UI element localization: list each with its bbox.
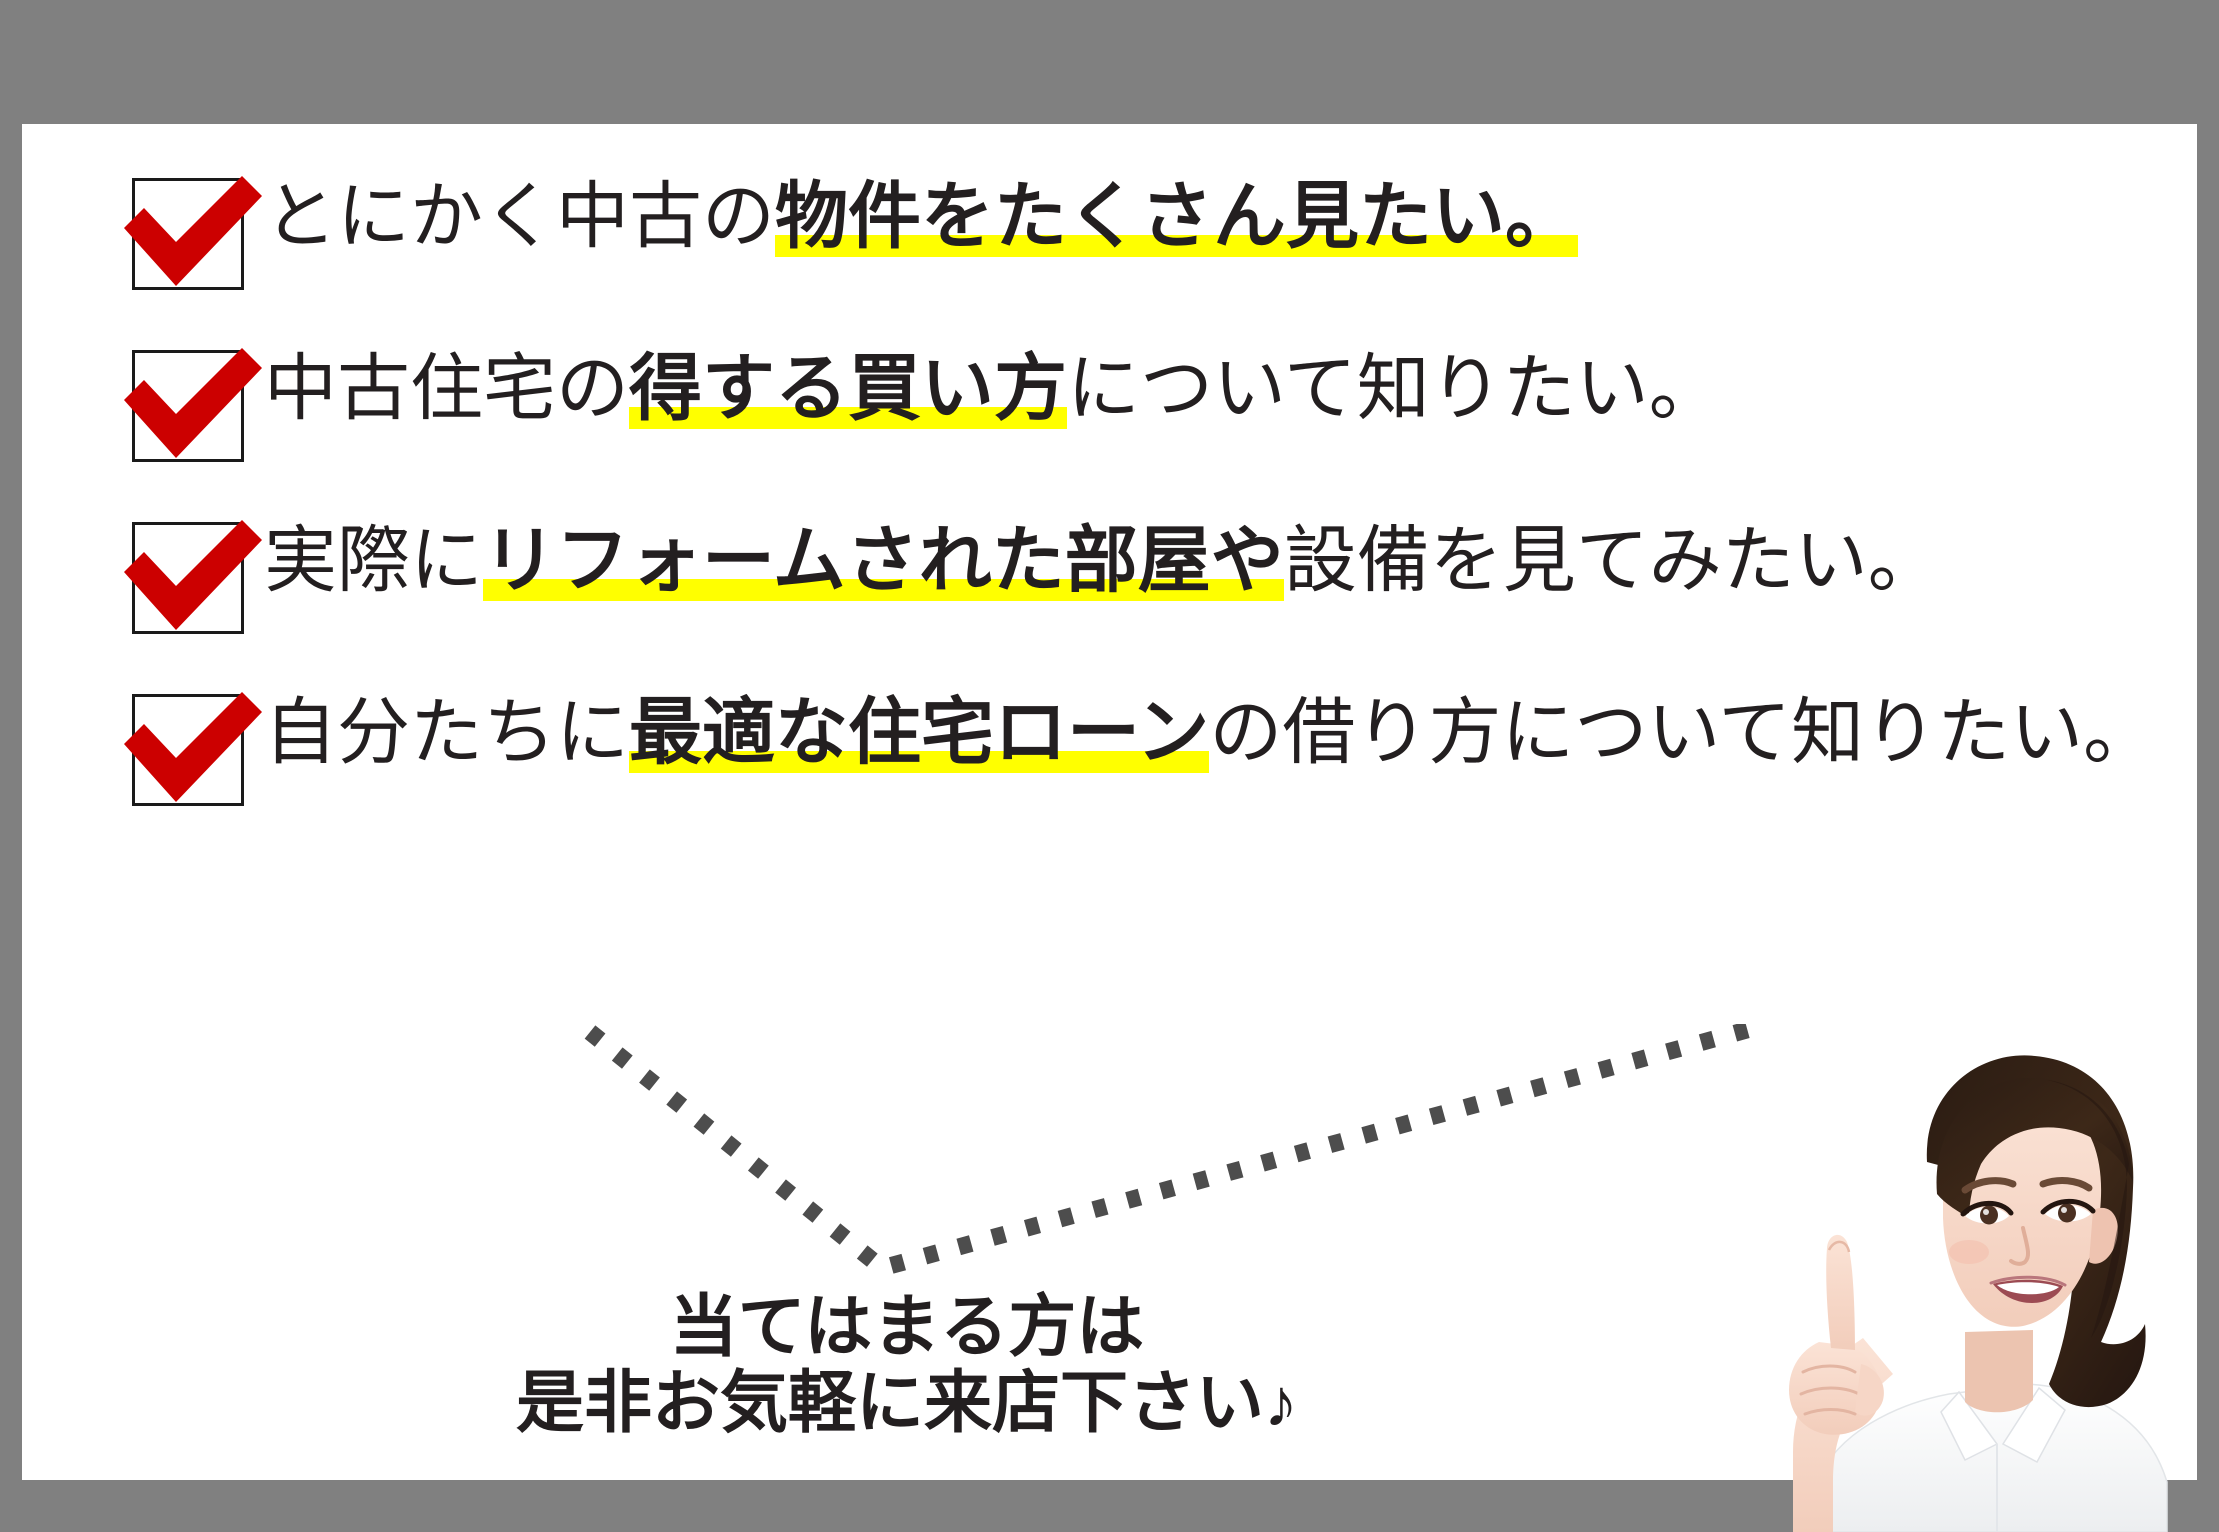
text-plain-after: の借り方について知りたい。 [1209,692,2156,773]
woman-pointing-photo [1697,1012,2197,1532]
cta-line-1: 当てはまる方は [22,1289,1792,1365]
checklist-item-text: 実際にリフォームされた部屋や設備を見てみたい。 [264,508,1941,597]
dotted-chevron-arrow-icon [582,1024,1762,1284]
checkbox[interactable] [114,344,264,474]
text-highlighted: 物件をたくさん見たい。 [775,176,1578,257]
checklist-item: 実際にリフォームされた部屋や設備を見てみたい。 [114,508,2134,680]
flyer-page: とにかく中古の物件をたくさん見たい。 中古住宅の得する買い方について知りたい。 [0,0,2219,1532]
text-plain-before: とにかく中古の [264,176,775,257]
checkbox[interactable] [114,516,264,646]
check-mark-icon [114,344,264,474]
cta-line-2: 是非お気軽に来店下さい♪ [22,1365,1792,1441]
checkbox[interactable] [114,688,264,818]
checklist-item-text: とにかく中古の物件をたくさん見たい。 [264,164,1578,253]
checklist-item-text: 自分たちに最適な住宅ローンの借り方について知りたい。 [264,680,2156,769]
text-plain-after: 設備を見てみたい。 [1284,520,1941,601]
check-mark-icon [114,516,264,646]
cta-text-block: 当てはまる方は 是非お気軽に来店下さい♪ [22,1289,1792,1441]
text-highlighted: リフォームされた部屋や [483,520,1284,601]
checklist-item-text: 中古住宅の得する買い方について知りたい。 [264,336,1722,425]
text-plain-before: 中古住宅の [264,348,629,429]
frame-top-bar [0,0,2219,124]
checklist-item: 自分たちに最適な住宅ローンの借り方について知りたい。 [114,680,2134,852]
frame-left-bar [0,0,22,1532]
checkbox[interactable] [114,172,264,302]
text-plain-before: 自分たちに [264,692,629,773]
checklist-item: 中古住宅の得する買い方について知りたい。 [114,336,2134,508]
checklist-item: とにかく中古の物件をたくさん見たい。 [114,164,2134,336]
check-mark-icon [114,688,264,818]
check-mark-icon [114,172,264,302]
frame-right-bar [2197,0,2219,1532]
text-highlighted: 得する買い方 [629,348,1067,429]
text-plain-before: 実際に [264,520,483,601]
text-highlighted: 最適な住宅ローン [629,692,1209,773]
checklist: とにかく中古の物件をたくさん見たい。 中古住宅の得する買い方について知りたい。 [114,164,2134,852]
text-plain-after: について知りたい。 [1067,348,1722,429]
